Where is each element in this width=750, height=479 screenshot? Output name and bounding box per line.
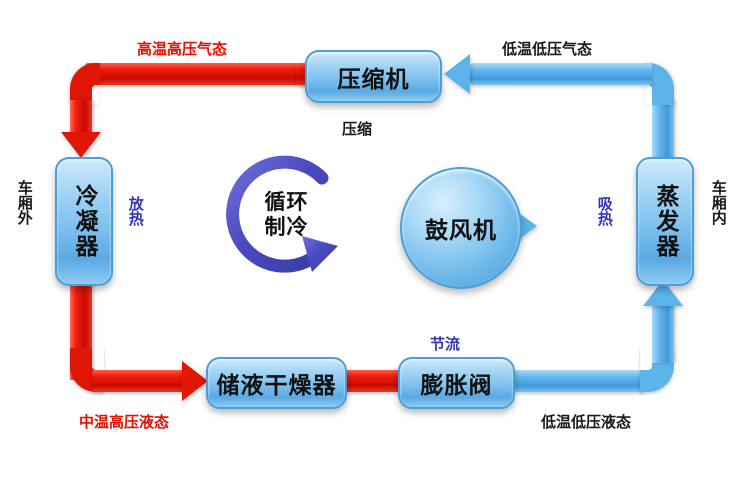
arrow-hot-into-receiver-dryer <box>182 361 208 401</box>
label-medium-temp-high-pressure-liquid: 中温高压液态 <box>79 411 169 432</box>
label-low-temp-low-pressure-liquid: 低温低压液态 <box>541 411 631 432</box>
label-low-temp-low-pressure-gas: 低温低压气态 <box>502 38 592 59</box>
expansion-valve-label: 膨胀阀 <box>421 366 493 400</box>
refrigeration-cycle-diagram: 压缩机 冷凝器 蒸发器 储液干燥器 膨胀阀 鼓风机 循环 制冷 高温高压气态 <box>0 0 750 479</box>
pipe-cold-top <box>470 63 652 85</box>
evaporator-label: 蒸发器 <box>648 184 682 259</box>
blower-label: 鼓风机 <box>425 211 497 245</box>
component-compressor[interactable]: 压缩机 <box>305 50 442 103</box>
pipe-cold-right-upper <box>652 100 674 162</box>
pipe-hot-elbow-topleft <box>70 63 100 105</box>
component-expansion-valve[interactable]: 膨胀阀 <box>398 357 515 409</box>
component-condenser[interactable]: 冷凝器 <box>55 157 113 286</box>
component-evaporator[interactable]: 蒸发器 <box>636 157 694 286</box>
label-outside-cabin: 车厢外 <box>16 180 32 225</box>
pipe-cold-bottom-right <box>508 370 645 392</box>
cycle-label-line2: 制冷 <box>234 215 339 240</box>
label-throttling: 节流 <box>430 333 460 354</box>
arrow-hot-into-condenser <box>61 132 101 158</box>
cycle-label-line1: 循环 <box>234 190 339 215</box>
label-compression: 压缩 <box>342 118 372 139</box>
pipe-hot-top <box>85 63 310 85</box>
receiver-dryer-label: 储液干燥器 <box>217 366 337 400</box>
cycle-label: 循环 制冷 <box>234 190 339 240</box>
component-blower[interactable]: 鼓风机 <box>400 167 522 289</box>
pipe-hot-bottom-left <box>92 370 187 392</box>
label-heat-release: 放热 <box>127 196 143 226</box>
component-receiver-dryer[interactable]: 储液干燥器 <box>206 357 347 409</box>
label-inside-cabin: 车厢内 <box>710 180 726 225</box>
arrow-cold-into-compressor <box>444 54 470 94</box>
condenser-label: 冷凝器 <box>67 184 101 259</box>
compressor-label: 压缩机 <box>338 60 410 94</box>
pipe-hot-bottom-middle <box>340 370 402 392</box>
pipe-cold-right-lower <box>652 305 674 363</box>
label-heat-absorb: 吸热 <box>596 196 612 226</box>
label-high-temp-high-pressure-gas: 高温高压气态 <box>137 38 227 59</box>
